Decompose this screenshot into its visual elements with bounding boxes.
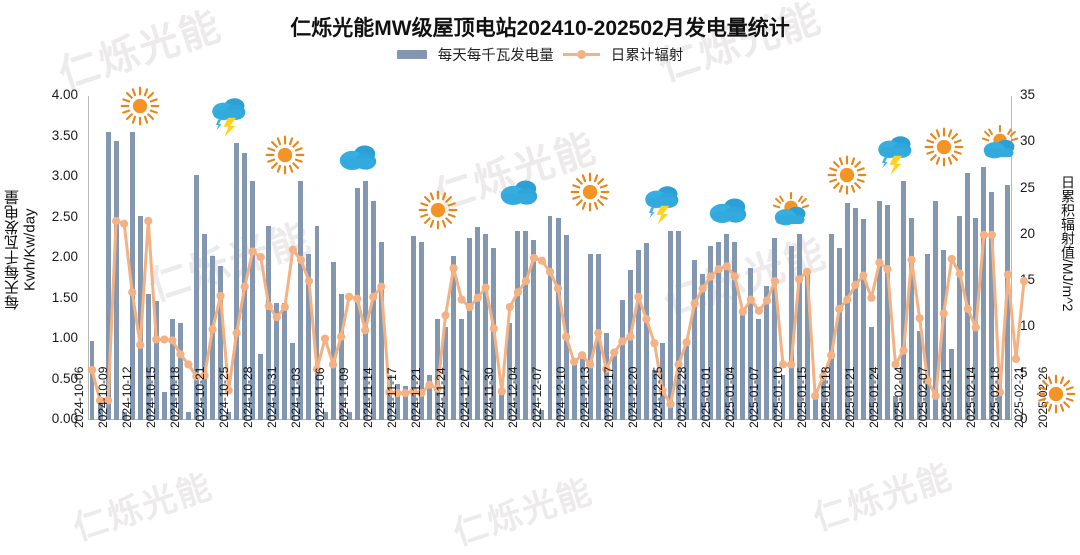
y-tick-right: 35 [1020, 87, 1035, 102]
sun-icon [120, 86, 160, 131]
x-tick-label: 2024-12-28 [675, 367, 689, 428]
cloud-icon [704, 195, 750, 233]
y-tick-left: 1.00 [30, 330, 78, 345]
x-tick-label: 2025-02-04 [892, 367, 906, 428]
x-tick-label: 2024-12-10 [554, 367, 568, 428]
x-tick-label: 2025-02-11 [940, 368, 954, 429]
x-tick-label: 2024-10-31 [265, 367, 279, 428]
watermark: 仁烁光能 [66, 459, 218, 550]
x-tick-label: 2025-01-01 [699, 367, 713, 428]
y-axis-right-title: 日累积辐射值/MJ/m^2 [1058, 175, 1078, 360]
y-tick-left: 0.50 [30, 371, 78, 386]
x-tick-label: 2024-11-14 [361, 368, 375, 429]
thunderstorm-icon [207, 95, 251, 142]
x-tick-label: 2025-01-18 [819, 367, 833, 428]
legend-line-marker [563, 50, 600, 59]
thunderstorm-icon [640, 183, 684, 230]
x-tick-label: 2025-02-14 [964, 367, 978, 428]
x-tick-label: 2025-01-21 [843, 367, 857, 428]
x-tick-label: 2024-12-13 [578, 367, 592, 428]
x-tick-label: 2024-11-27 [458, 368, 472, 429]
y-tick-right: 25 [1020, 180, 1035, 195]
y-tick-left: 1.50 [30, 290, 78, 305]
legend-bar-swatch [397, 50, 427, 59]
x-tick-label: 2024-12-17 [602, 367, 616, 428]
sun-icon [1036, 374, 1076, 419]
partly-cloudy-icon [978, 125, 1022, 166]
chart-legend: 每天每千瓦发电量 日累计辐射 [0, 44, 1080, 65]
x-tick-label: 2024-10-25 [217, 367, 231, 428]
x-tick-label: 2024-10-18 [168, 367, 182, 428]
sun-icon [570, 172, 610, 217]
y-tick-left: 2.00 [30, 249, 78, 264]
y-tick-right: 30 [1020, 133, 1035, 148]
x-tick-label: 2024-11-24 [434, 368, 448, 429]
x-tick-label: 2024-11-17 [385, 368, 399, 429]
sun-icon [827, 155, 867, 200]
x-tick-label: 2024-11-09 [337, 368, 351, 429]
x-tick-label: 2024-12-25 [651, 367, 665, 428]
y-tick-right: 20 [1020, 226, 1035, 241]
x-tick-label: 2025-02-07 [916, 367, 930, 428]
x-tick-label: 2024-11-06 [313, 368, 327, 429]
x-tick-label: 2025-02-21 [1012, 367, 1026, 428]
y-tick-right: 10 [1020, 318, 1035, 333]
sun-icon [418, 190, 458, 235]
watermark: 仁烁光能 [446, 464, 598, 555]
y-tick-left: 4.00 [30, 87, 78, 102]
sun-icon [265, 135, 305, 180]
x-tick-label: 2024-10-15 [144, 367, 158, 428]
x-tick-label: 2025-01-10 [771, 367, 785, 428]
x-tick-label: 2025-01-04 [723, 367, 737, 428]
y-tick-left: 2.50 [30, 209, 78, 224]
cloud-icon [334, 142, 380, 180]
x-tick-label: 2024-12-20 [626, 367, 640, 428]
x-tick-label: 2024-12-04 [506, 367, 520, 428]
x-tick-label: 2024-11-03 [289, 368, 303, 429]
partly-cloudy-icon [769, 192, 813, 233]
legend-bar-label: 每天每千瓦发电量 [438, 44, 554, 65]
x-tick-label: 2024-10-12 [120, 367, 134, 428]
x-tick-label: 2025-01-24 [867, 367, 881, 428]
chart-container: 仁烁光能 仁烁光能 仁烁光能 仁烁光能 仁烁光能 仁烁光能 仁烁光能 仁烁光能 … [0, 0, 1080, 534]
x-tick-label: 2025-02-18 [988, 367, 1002, 428]
legend-line-label: 日累计辐射 [611, 44, 684, 65]
watermark: 仁烁光能 [806, 449, 958, 540]
y-tick-left: 3.50 [30, 128, 78, 143]
y-tick-left: 3.00 [30, 168, 78, 183]
y-tick-left: 0.00 [30, 411, 78, 426]
x-tick-label: 2024-10-06 [72, 367, 86, 428]
chart-title: 仁烁光能MW级屋顶电站202410-202502月发电量统计 [0, 12, 1080, 42]
x-tick-label: 2024-11-30 [482, 368, 496, 429]
thunderstorm-icon [873, 133, 917, 180]
cloud-icon [495, 177, 541, 215]
x-tick-label: 2024-10-28 [241, 367, 255, 428]
sun-icon [924, 127, 964, 172]
x-tick-label: 2024-10-09 [96, 367, 110, 428]
x-tick-label: 2024-11-21 [409, 368, 423, 429]
x-tick-label: 2024-10-21 [193, 367, 207, 428]
x-tick-label: 2024-12-07 [530, 367, 544, 428]
x-tick-label: 2025-01-07 [747, 367, 761, 428]
x-tick-label: 2025-01-15 [795, 367, 809, 428]
